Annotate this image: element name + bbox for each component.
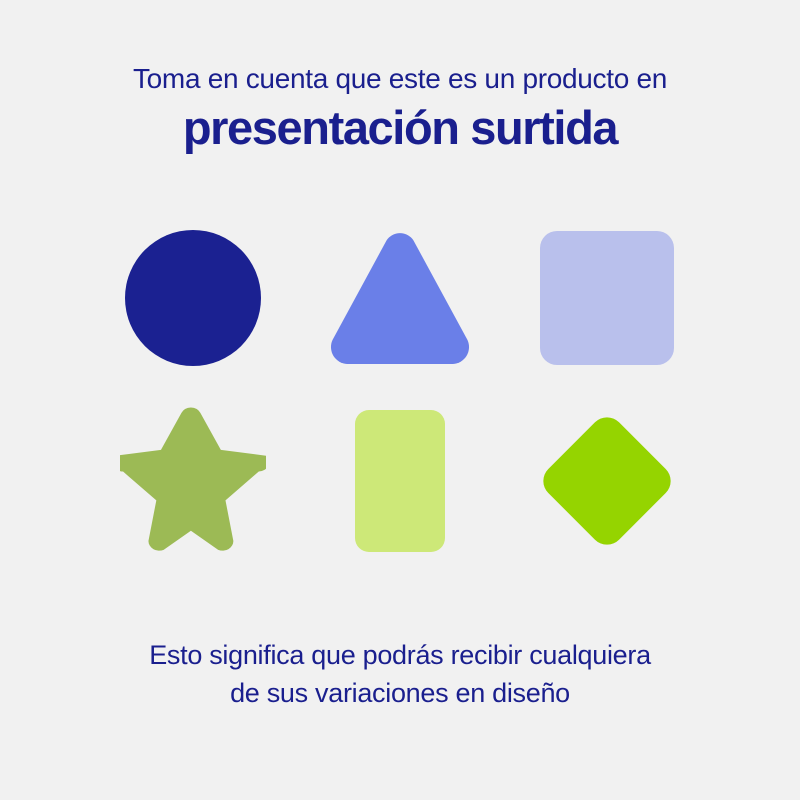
rounded-rectangle-shape-icon — [355, 410, 445, 552]
shapes-grid — [90, 218, 710, 566]
rounded-square-shape-icon — [540, 231, 674, 365]
shape-cell-star — [90, 396, 297, 566]
circle-shape-icon — [125, 230, 261, 366]
shape-cell-rounded-square — [503, 218, 710, 378]
footer-line-2: de sus variaciones en diseño — [0, 674, 800, 712]
footer-block: Esto significa que podrás recibir cualqu… — [0, 636, 800, 712]
shape-cell-circle — [90, 218, 297, 378]
star-shape-icon — [120, 406, 266, 556]
headline-line-1: Toma en cuenta que este es un producto e… — [0, 62, 800, 96]
assorted-presentation-poster: Toma en cuenta que este es un producto e… — [0, 0, 800, 800]
headline-line-2: presentación surtida — [0, 100, 800, 156]
shape-cell-triangle — [297, 218, 504, 378]
triangle-shape-icon — [324, 229, 476, 367]
footer-line-1: Esto significa que podrás recibir cualqu… — [0, 636, 800, 674]
headline-block: Toma en cuenta que este es un producto e… — [0, 62, 800, 156]
shape-cell-rounded-rectangle — [297, 396, 504, 566]
diamond-shape-icon — [529, 402, 685, 560]
shape-cell-diamond — [503, 396, 710, 566]
